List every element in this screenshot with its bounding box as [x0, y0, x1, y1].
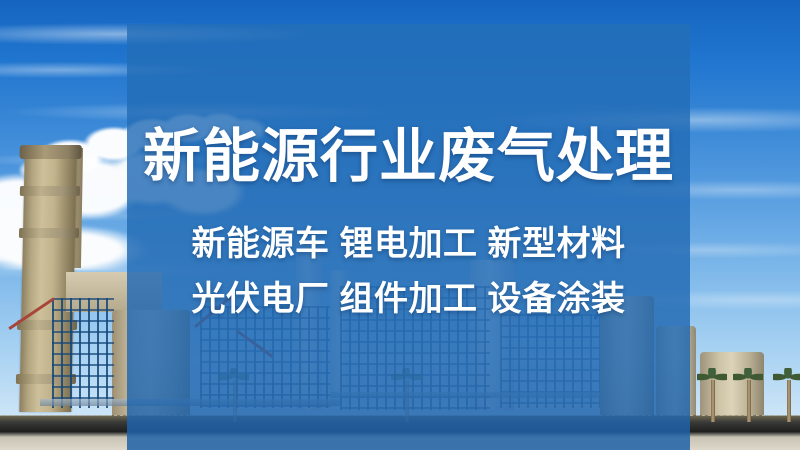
banner-subheading-1: 新能源车 锂电加工 新型材料 — [143, 227, 674, 261]
banner-text-block: 新能源行业废气处理 新能源车 锂电加工 新型材料 光伏电厂 组件加工 设备涂装 — [127, 24, 690, 450]
smokestack-cap — [20, 145, 82, 159]
smokestack-band — [20, 186, 80, 196]
palm-tree — [706, 366, 720, 422]
steel-framework — [52, 298, 114, 408]
palm-tree — [782, 368, 796, 422]
marketing-banner: 新能源行业废气处理 新能源车 锂电加工 新型材料 光伏电厂 组件加工 设备涂装 — [0, 0, 800, 450]
smokestack-band — [19, 228, 79, 238]
palm-trunk — [747, 380, 751, 422]
banner-headline: 新能源行业废气处理 — [143, 128, 674, 186]
palm-trunk — [711, 380, 715, 422]
palm-trunk — [787, 380, 791, 422]
banner-subheading-2: 光伏电厂 组件加工 设备涂装 — [143, 282, 674, 316]
crane-boom — [8, 297, 54, 330]
palm-tree — [742, 372, 756, 422]
